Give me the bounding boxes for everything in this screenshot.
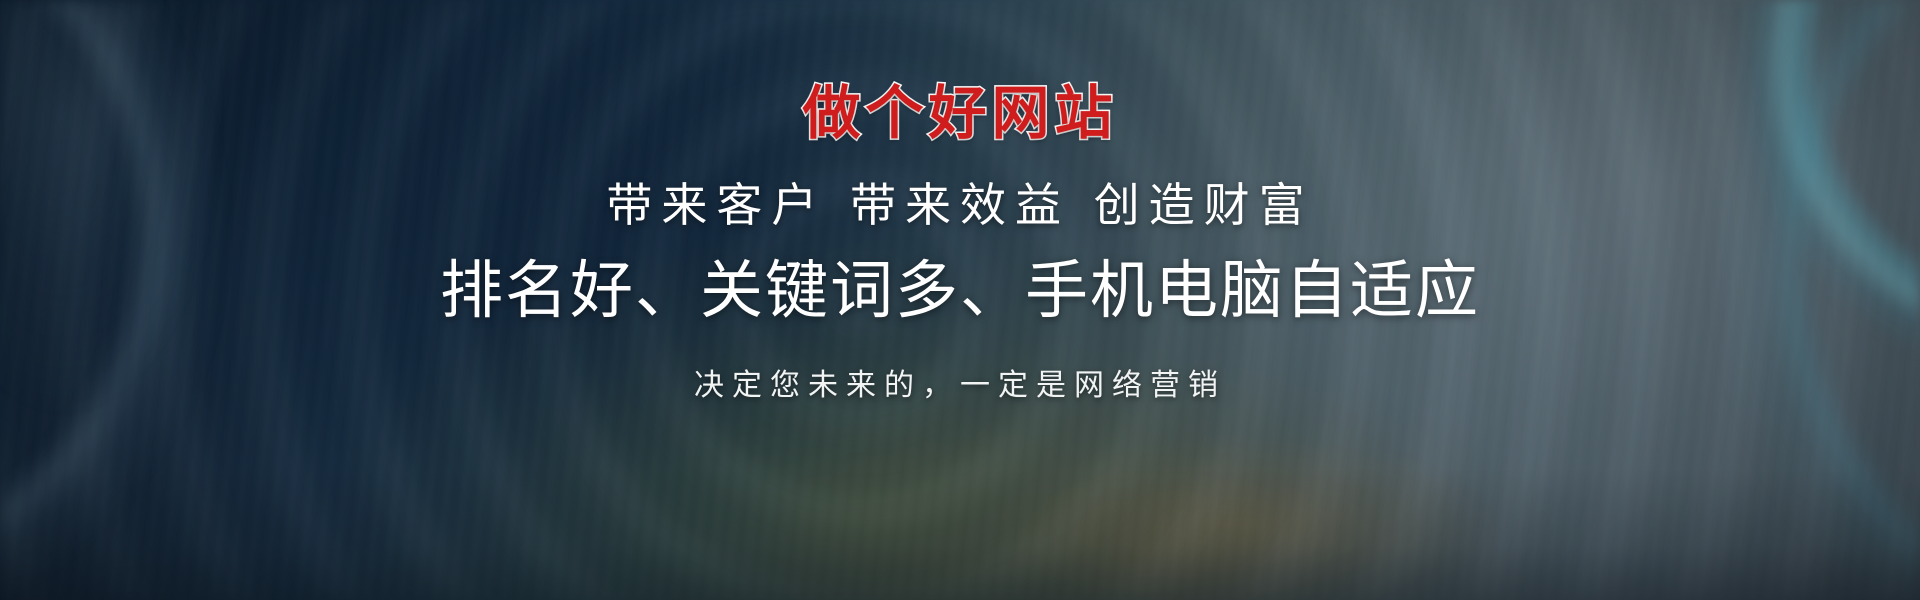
banner-headline: 做个好网站 — [802, 84, 1117, 142]
banner-tagline: 决定您未来的，一定是网络营销 — [694, 371, 1226, 401]
promo-banner: 做个好网站 带来客户 带来效益 创造财富 排名好、关键词多、手机电脑自适应 决定… — [0, 0, 1920, 600]
banner-text-stack: 做个好网站 带来客户 带来效益 创造财富 排名好、关键词多、手机电脑自适应 决定… — [0, 0, 1920, 600]
banner-mainline: 排名好、关键词多、手机电脑自适应 — [440, 259, 1480, 322]
banner-subline: 带来客户 带来效益 创造财富 — [606, 182, 1313, 228]
